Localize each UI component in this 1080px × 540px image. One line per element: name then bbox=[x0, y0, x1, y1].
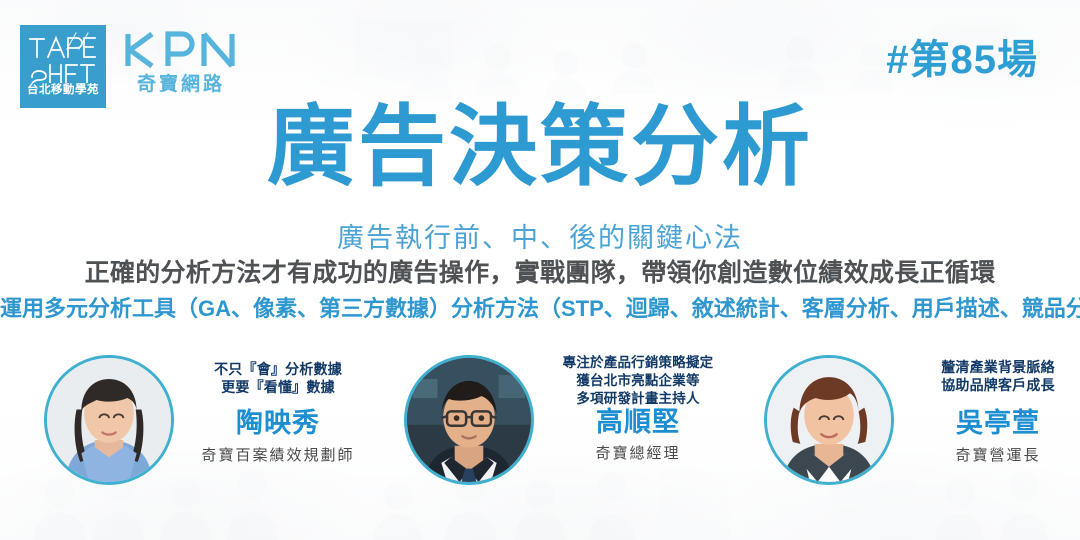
kpn-mark-icon bbox=[122, 30, 240, 70]
subtitle: 廣告執行前、中、後的關鍵心法 bbox=[0, 222, 1080, 254]
speaker-role: 奇寶總經理 bbox=[544, 445, 732, 463]
logo-taipei-shift: 台北移動學苑 bbox=[20, 25, 106, 108]
avatar bbox=[764, 355, 894, 485]
kpn-zh-label: 奇寶網路 bbox=[122, 75, 240, 94]
avatar bbox=[44, 355, 174, 485]
speaker-blurb: 不只『會』分析數據 更要『看懂』數據 bbox=[184, 352, 372, 397]
speaker-info: 釐清產業背景脈絡 協助品牌客戶成長 吳亭萱 奇寶營運長 bbox=[904, 352, 1080, 500]
speaker-role: 奇寶百案績效規劃師 bbox=[184, 447, 372, 465]
speaker-info: 不只『會』分析數據 更要『看懂』數據 陶映秀 奇寶百案績效規劃師 bbox=[184, 352, 372, 500]
speaker-card: 釐清產業背景脈絡 協助品牌客戶成長 吳亭萱 奇寶營運長 bbox=[734, 352, 1080, 500]
speaker-portrait-icon bbox=[407, 358, 531, 482]
speaker-portrait-icon bbox=[767, 358, 891, 482]
speaker-name: 陶映秀 bbox=[184, 409, 372, 439]
speaker-name: 高順堅 bbox=[544, 408, 732, 438]
methods-line: 運用多元分析工具（GA、像素、第三方數據）分析方法（STP、迴歸、敘述統計、客層… bbox=[0, 296, 1080, 322]
event-poster: 台北移動學苑 奇寶網路 #第85場 廣告決策分析 廣告執行前、中、後的關鍵心法 … bbox=[0, 0, 1080, 540]
session-number-badge: #第85場 bbox=[886, 40, 1038, 80]
speaker-blurb: 釐清產業背景脈絡 協助品牌客戶成長 bbox=[904, 352, 1080, 395]
logo-kpn: 奇寶網路 bbox=[122, 30, 240, 96]
poster-header: 台北移動學苑 奇寶網路 #第85場 bbox=[0, 0, 1080, 108]
speaker-blurb: 專注於產品行銷策略擬定 獲台北市亮點企業等 多項研發計畫主持人 bbox=[544, 352, 732, 407]
page-title: 廣告決策分析 bbox=[0, 101, 1080, 193]
speaker-list: 不只『會』分析數據 更要『看懂』數據 陶映秀 奇寶百案績效規劃師 bbox=[0, 352, 1080, 502]
taipei-shift-mark-icon bbox=[26, 31, 100, 83]
speaker-card: 專注於產品行銷策略擬定 獲台北市亮點企業等 多項研發計畫主持人 高順堅 奇寶總經… bbox=[374, 352, 734, 500]
avatar bbox=[404, 355, 534, 485]
speaker-portrait-icon bbox=[47, 358, 171, 482]
speaker-info: 專注於產品行銷策略擬定 獲台北市亮點企業等 多項研發計畫主持人 高順堅 奇寶總經… bbox=[544, 352, 732, 500]
speaker-name: 吳亭萱 bbox=[904, 409, 1080, 439]
taipei-shift-zh-label: 台北移動學苑 bbox=[27, 85, 99, 97]
speaker-card: 不只『會』分析數據 更要『看懂』數據 陶映秀 奇寶百案績效規劃師 bbox=[14, 352, 374, 500]
tagline: 正確的分析方法才有成功的廣告操作，實戰團隊，帶領你創造數位績效成長正循環 bbox=[0, 258, 1080, 288]
speaker-role: 奇寶營運長 bbox=[904, 447, 1080, 465]
